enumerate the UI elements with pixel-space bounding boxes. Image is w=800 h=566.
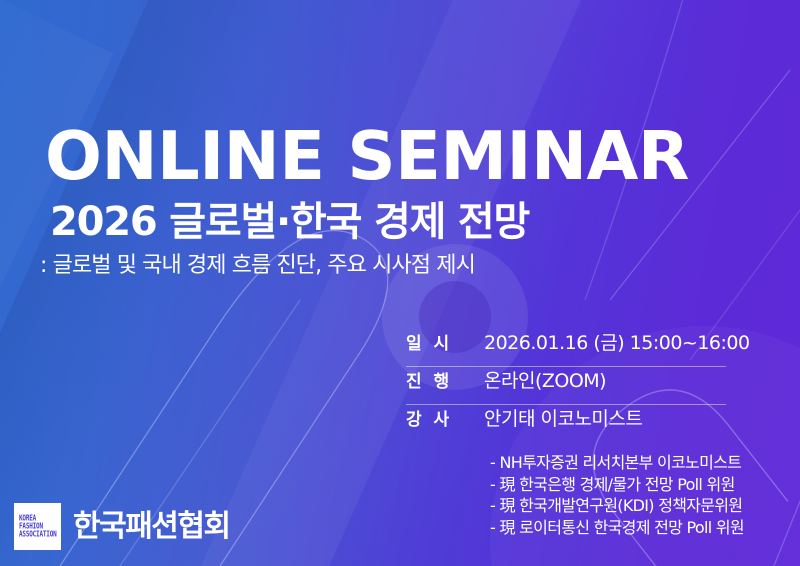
seminar-poster: ONLINE SEMINAR 2026 글로벌·한국 경제 전망 : 글로벌 및… (0, 0, 800, 566)
seminar-details-table: 일 시 2026.01.16 (금) 15:00~16:00 진 행 온라인(Z… (406, 329, 726, 442)
detail-value-speaker: 안기태 이코노미스트 (484, 405, 642, 431)
logo-mark-icon: KOREA FASHION ASSOCIATION (14, 503, 61, 550)
list-item: NH투자증권 리서치본부 이코노미스트 (490, 452, 744, 474)
detail-label-platform: 진 행 (406, 367, 484, 394)
list-item: 現 한국은행 경제/물가 전망 Poll 위원 (490, 474, 744, 496)
page-title: ONLINE SEMINAR (45, 123, 689, 190)
logo-mark-line-3: ASSOCIATION (19, 530, 57, 540)
table-row: 진 행 온라인(ZOOM) (406, 367, 726, 405)
detail-label-date: 일 시 (406, 329, 484, 356)
list-item: 現 로이터통신 한국경제 전망 Poll 위원 (490, 517, 744, 539)
table-row: 강 사 안기태 이코노미스트 (406, 405, 726, 442)
detail-value-platform: 온라인(ZOOM) (484, 367, 606, 393)
organization-logo: KOREA FASHION ASSOCIATION 한국패션협회 (14, 503, 230, 550)
organization-name: 한국패션협회 (73, 512, 230, 542)
table-row: 일 시 2026.01.16 (금) 15:00~16:00 (406, 329, 726, 367)
seminar-subtitle: 2026 글로벌·한국 경제 전망 (50, 199, 529, 245)
detail-value-date: 2026.01.16 (금) 15:00~16:00 (484, 329, 750, 355)
seminar-tagline: : 글로벌 및 국내 경제 흐름 진단, 주요 시사점 제시 (40, 252, 475, 281)
speaker-credentials-list: NH투자증권 리서치본부 이코노미스트 現 한국은행 경제/물가 전망 Poll… (490, 452, 744, 538)
list-item: 現 한국개발연구원(KDI) 정책자문위원 (490, 495, 744, 517)
detail-label-speaker: 강 사 (406, 405, 484, 432)
